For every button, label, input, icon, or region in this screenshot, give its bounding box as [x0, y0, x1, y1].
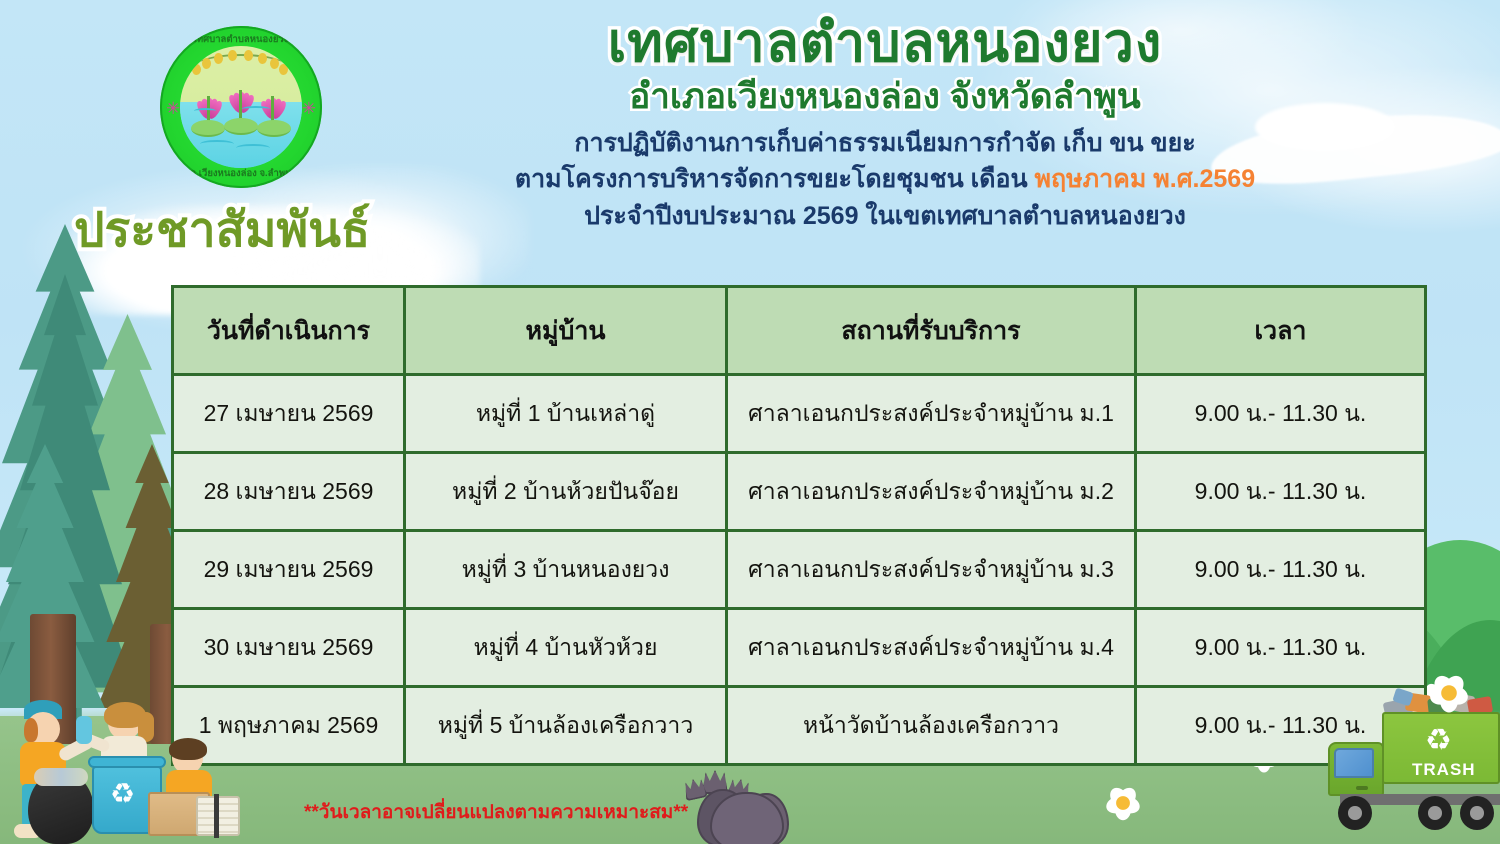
truck-window — [1334, 748, 1374, 778]
logo-ripple-icon — [242, 106, 270, 112]
logo-ripple-icon — [200, 140, 234, 148]
logo-ripple-icon — [194, 108, 216, 114]
cell-time: 9.00 น.- 11.30 น. — [1136, 453, 1426, 531]
schedule-footnote: **วันเวลาอาจเปลี่ยนแปลงตามความเหมาะสม** — [304, 797, 688, 827]
cell-date: 30 เมษายน 2569 — [173, 609, 405, 687]
daisy-icon — [1103, 783, 1142, 822]
child-hair-icon — [169, 738, 207, 760]
logo-lilypad-icon — [224, 118, 258, 135]
column-header-time: เวลา — [1136, 287, 1426, 375]
logo-ring-top-label: เทศบาลตำบลหนองยวง — [194, 32, 289, 47]
header-line-3: การปฏิบัติงานการเก็บค่าธรรมเนียมการกำจัด… — [380, 125, 1390, 161]
poster-root: เทศบาลตำบลหนองยวง อ.เวียงหนองล่อง จ.ลำพู… — [0, 0, 1500, 844]
cell-place: ศาลาเอนกประสงค์ประจำหมู่บ้าน ม.1 — [727, 375, 1136, 453]
cell-time: 9.00 น.- 11.30 น. — [1136, 609, 1426, 687]
newspaper-tie-icon — [214, 794, 219, 838]
recycle-icon: ♻ — [110, 780, 135, 808]
cell-village: หมู่ที่ 4 บ้านหัวห้วย — [405, 609, 727, 687]
table-row: 28 เมษายน 2569 หมู่ที่ 2 บ้านห้วยปันจ๊อย… — [173, 453, 1426, 531]
table-header-row: วันที่ดำเนินการ หมู่บ้าน สถานที่รับบริกา… — [173, 287, 1426, 375]
cell-place: หน้าวัดบ้านล้องเครือกวาว — [727, 687, 1136, 765]
cell-place: ศาลาเอนกประสงค์ประจำหมู่บ้าน ม.2 — [727, 453, 1136, 531]
cell-date: 27 เมษายน 2569 — [173, 375, 405, 453]
schedule-table-wrapper: วันที่ดำเนินการ หมู่บ้าน สถานที่รับบริกา… — [171, 285, 1424, 766]
truck-wheel-icon — [1418, 796, 1452, 830]
cell-village: หมู่ที่ 3 บ้านหนองยวง — [405, 531, 727, 609]
logo-emblem-inner — [180, 46, 302, 168]
cell-place: ศาลาเอนกประสงค์ประจำหมู่บ้าน ม.4 — [727, 609, 1136, 687]
truck-recycle-icon: ♻ — [1425, 726, 1452, 756]
column-header-date: วันที่ดำเนินการ — [173, 287, 405, 375]
daisy-icon — [1427, 671, 1471, 715]
schedule-table-head: วันที่ดำเนินการ หมู่บ้าน สถานที่รับบริกา… — [173, 287, 1426, 375]
logo-lotus-icon — [260, 68, 286, 98]
cell-village: หมู่ที่ 5 บ้านล้องเครือกวาว — [405, 687, 727, 765]
cell-village: หมู่ที่ 1 บ้านเหล่าดู่ — [405, 375, 727, 453]
logo-star-icon: ✳ — [166, 100, 180, 117]
column-header-village: หมู่บ้าน — [405, 287, 727, 375]
table-row: 27 เมษายน 2569 หมู่ที่ 1 บ้านเหล่าดู่ ศา… — [173, 375, 1426, 453]
child-hair-icon — [24, 718, 38, 742]
table-row: 29 เมษายน 2569 หมู่ที่ 3 บ้านหนองยวง ศาล… — [173, 531, 1426, 609]
cell-place: ศาลาเอนกประสงค์ประจำหมู่บ้าน ม.3 — [727, 531, 1136, 609]
cell-time: 9.00 น.- 11.30 น. — [1136, 375, 1426, 453]
page-subtitle: อำเภอเวียงหนองล่อง จังหวัดลำพูน — [380, 75, 1390, 119]
garbage-bag-contents-icon — [34, 768, 88, 786]
cell-time: 9.00 น.- 11.30 น. — [1136, 531, 1426, 609]
cell-date: 1 พฤษภาคม 2569 — [173, 687, 405, 765]
truck-label: TRASH — [1412, 760, 1476, 780]
public-relations-badge: ประชาสัมพันธ์ — [74, 192, 370, 268]
header-line-4-highlight: พฤษภาคม พ.ศ.2569 — [1035, 165, 1256, 193]
logo-ring-bottom-label: อ.เวียงหนองล่อง จ.ลำพูน — [190, 166, 291, 181]
truck-wheel-icon — [1338, 796, 1372, 830]
header-line-4-prefix: ตามโครงการบริหารจัดการขยะโดยชุมชน เดือน — [515, 165, 1035, 193]
cell-date: 29 เมษายน 2569 — [173, 531, 405, 609]
page-title: เทศบาลตำบลหนองยวง — [380, 14, 1390, 73]
cell-date: 28 เมษายน 2569 — [173, 453, 405, 531]
table-row: 1 พฤษภาคม 2569 หมู่ที่ 5 บ้านล้องเครือกว… — [173, 687, 1426, 765]
municipality-logo: เทศบาลตำบลหนองยวง อ.เวียงหนองล่อง จ.ลำพู… — [160, 26, 322, 188]
logo-lotus-icon — [228, 62, 254, 92]
column-header-place: สถานที่รับบริการ — [727, 287, 1136, 375]
header-block: เทศบาลตำบลหนองยวง อำเภอเวียงหนองล่อง จัง… — [380, 14, 1390, 234]
logo-lilypad-icon — [191, 120, 225, 137]
logo-lilypad-icon — [257, 120, 291, 137]
plastic-bottle-icon — [76, 716, 92, 744]
logo-lotus-icon — [196, 68, 222, 98]
schedule-table: วันที่ดำเนินการ หมู่บ้าน สถานที่รับบริกา… — [171, 285, 1427, 766]
logo-ripple-icon — [236, 144, 270, 152]
logo-star-icon: ✳ — [302, 100, 316, 117]
table-row: 30 เมษายน 2569 หมู่ที่ 4 บ้านหัวห้วย ศาล… — [173, 609, 1426, 687]
truck-wheel-icon — [1460, 796, 1494, 830]
cell-village: หมู่ที่ 2 บ้านห้วยปันจ๊อย — [405, 453, 727, 531]
schedule-table-body: 27 เมษายน 2569 หมู่ที่ 1 บ้านเหล่าดู่ ศา… — [173, 375, 1426, 765]
truck-door-handle-icon — [1356, 786, 1368, 790]
header-line-5: ประจำปีงบประมาณ 2569 ในเขตเทศบาลตำบลหนอง… — [380, 198, 1390, 234]
header-line-4: ตามโครงการบริหารจัดการขยะโดยชุมชน เดือน … — [380, 161, 1390, 197]
